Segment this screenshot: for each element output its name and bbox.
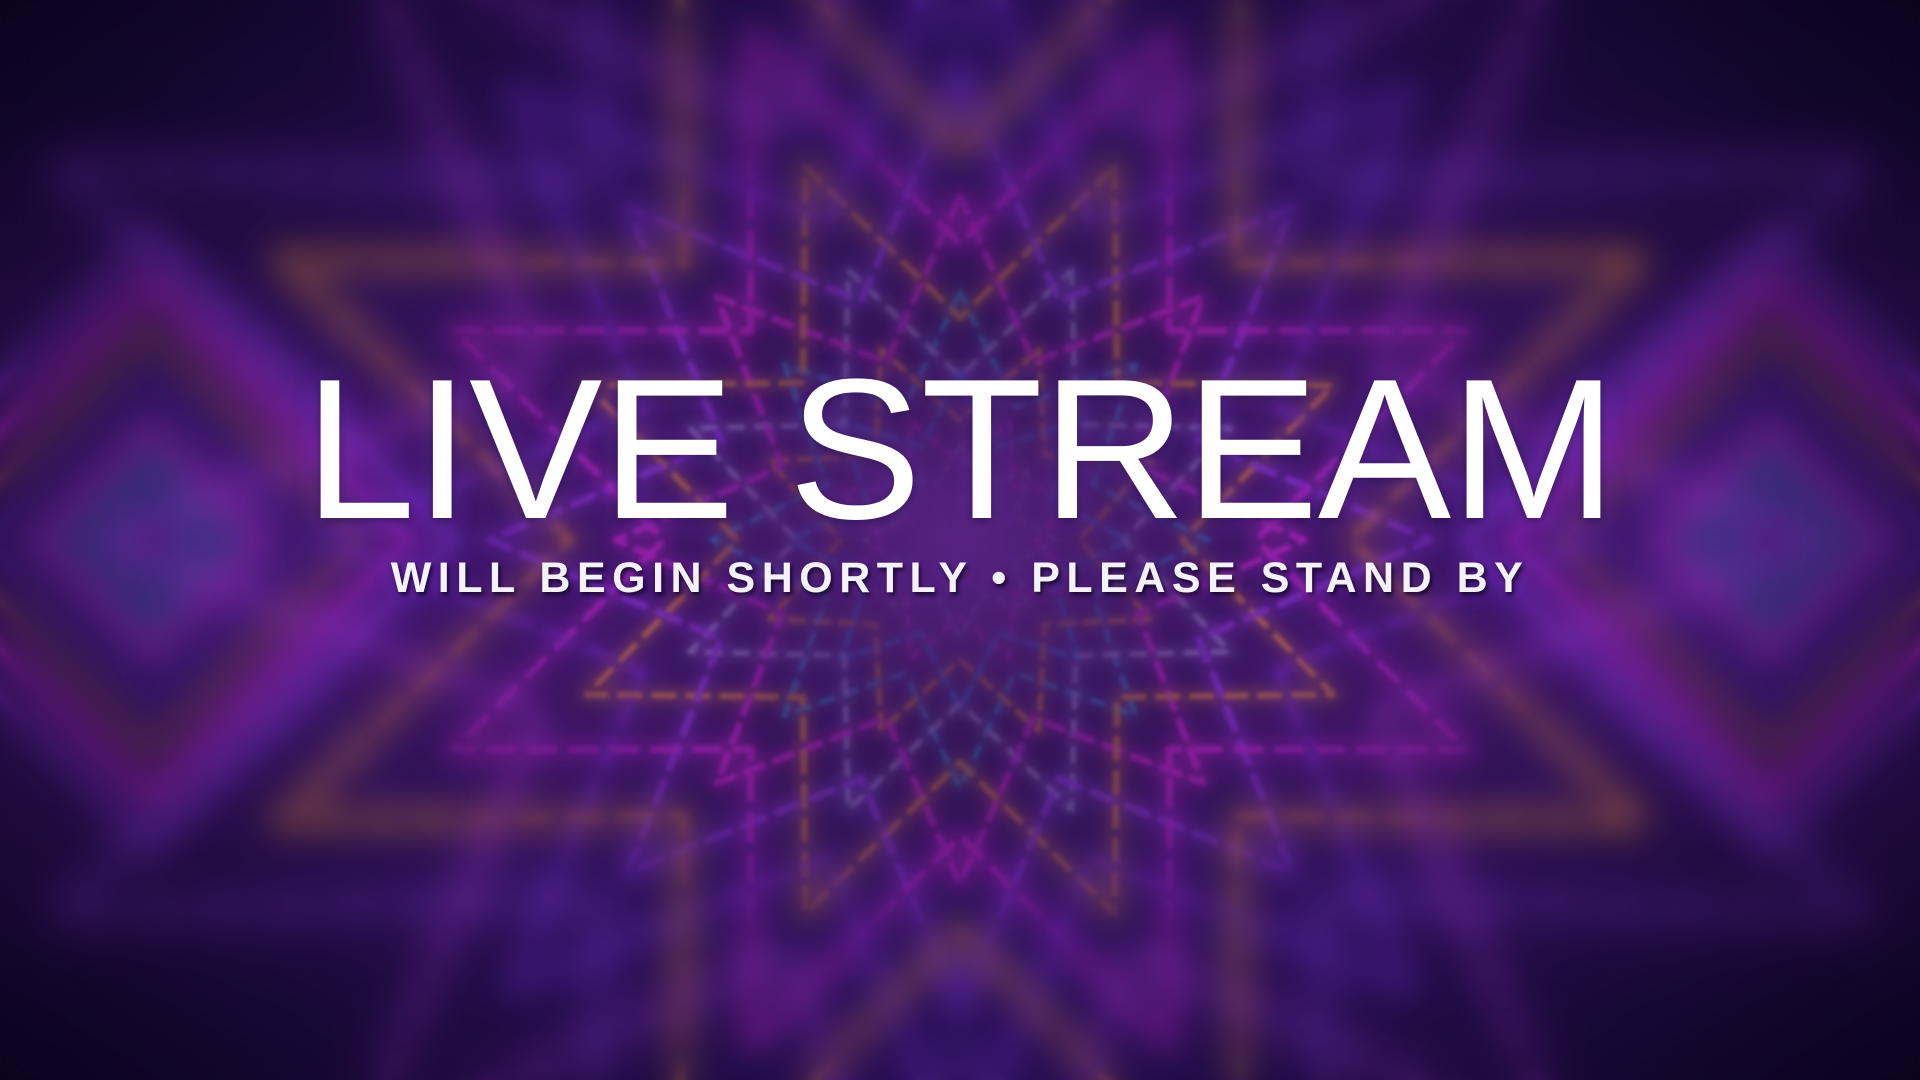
center-core-glow	[630, 210, 1290, 870]
kaleidoscope-background	[0, 0, 1920, 1080]
live-stream-slide: LIVE STREAM WILL BEGIN SHORTLY • PLEASE …	[0, 0, 1920, 1080]
kaleidoscope-pattern	[0, 0, 1920, 1080]
